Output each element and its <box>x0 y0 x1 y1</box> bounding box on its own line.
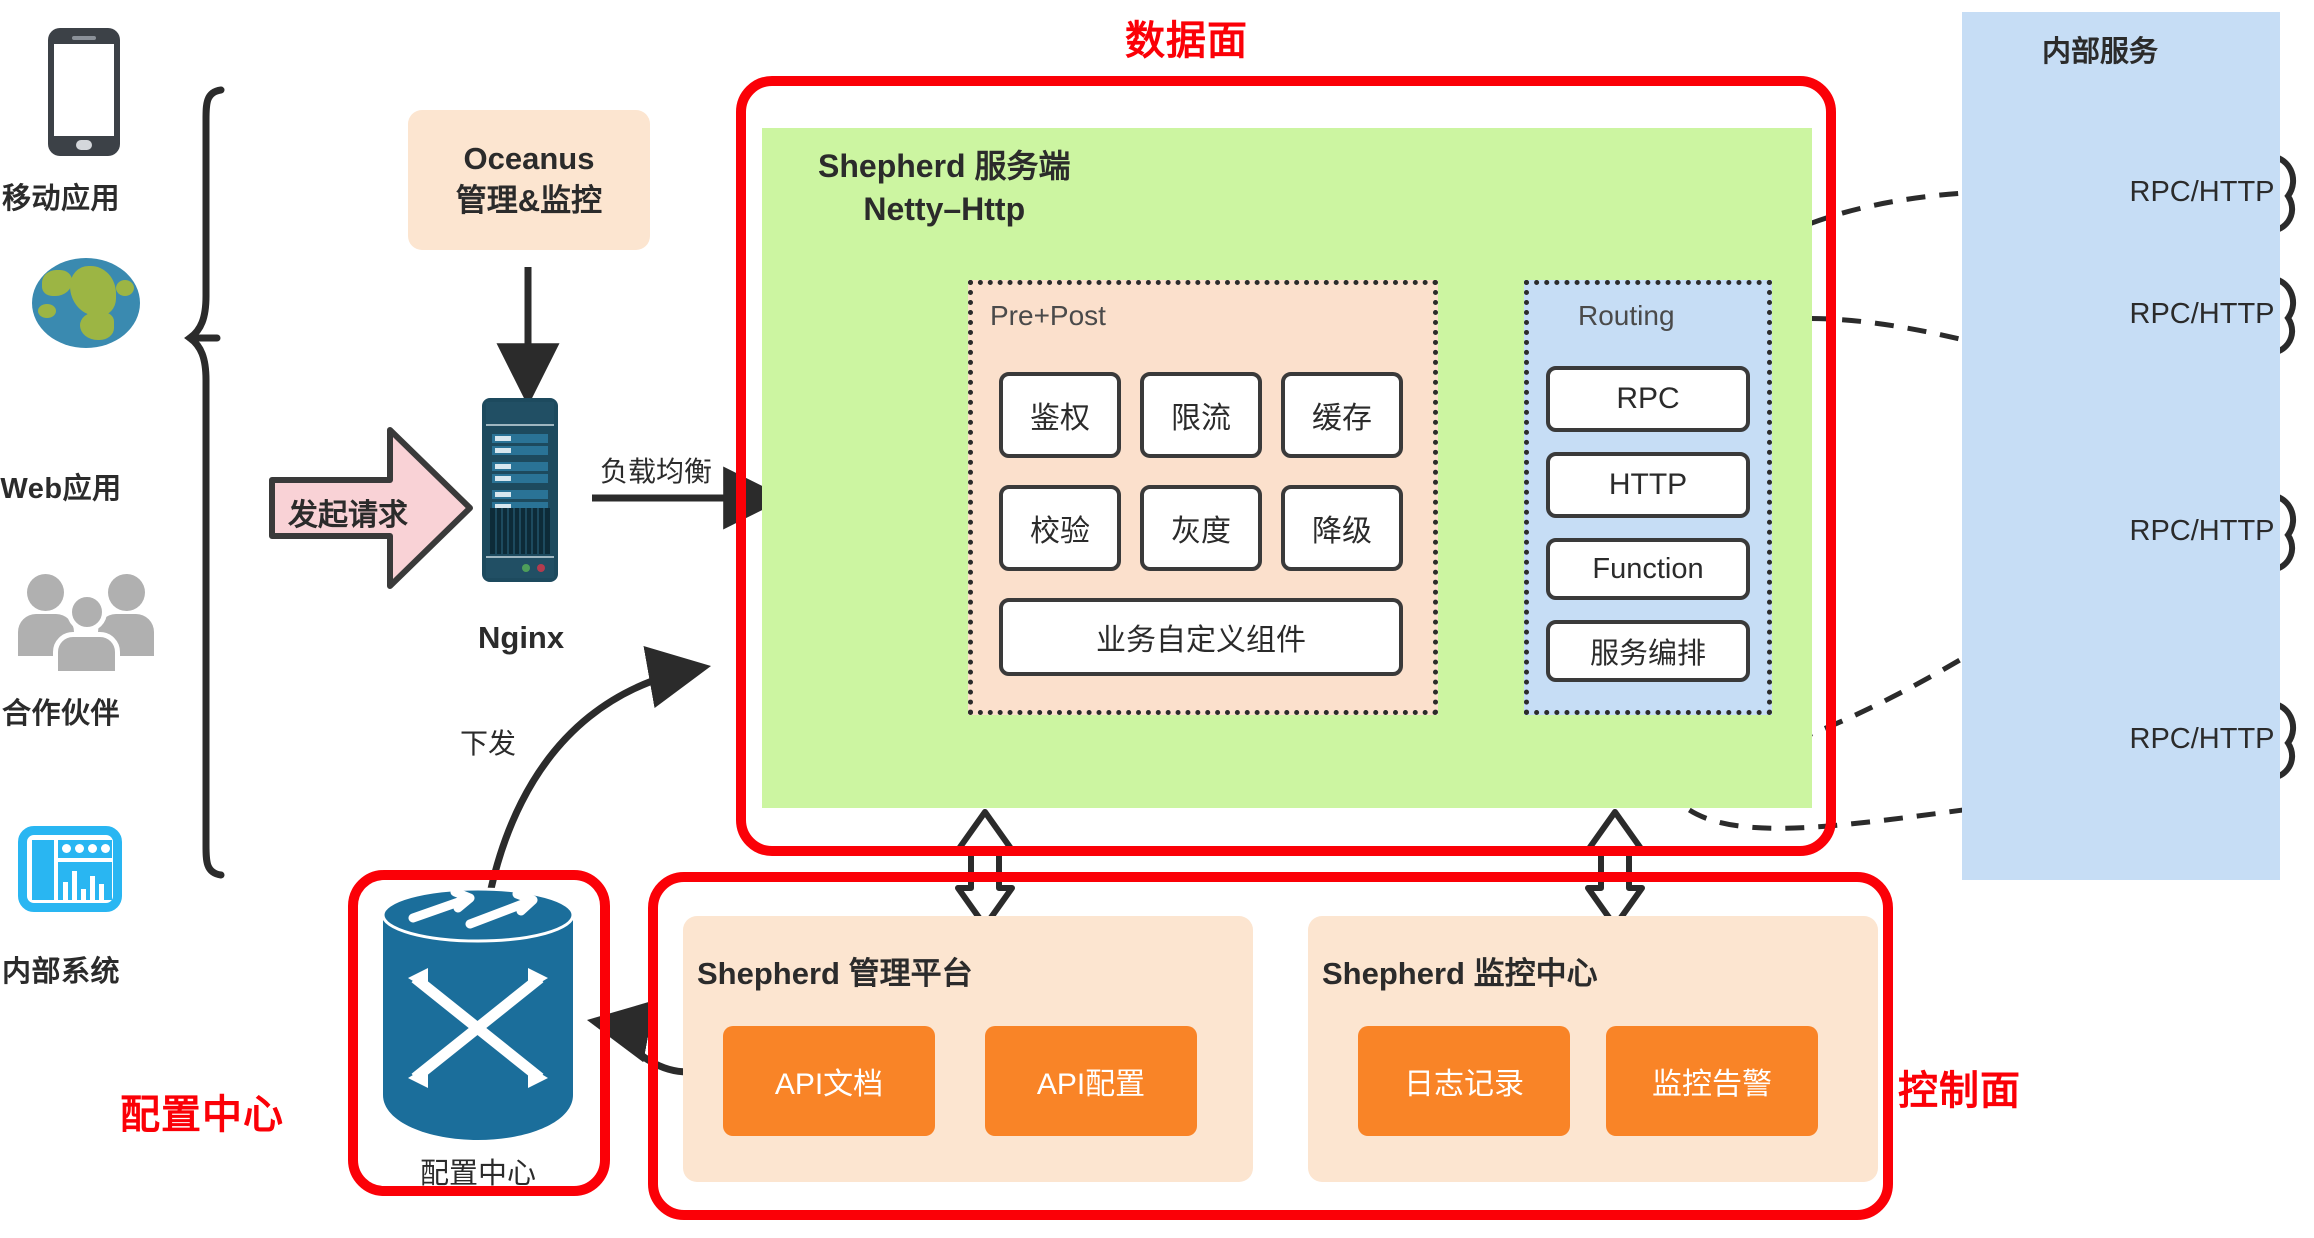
chip-ratelimit[interactable]: 限流 <box>1140 372 1262 458</box>
shepherd-server-title-line1: Shepherd 服务端 <box>818 145 1070 188</box>
cloud-label-2: RPC/HTTP <box>2110 294 2294 334</box>
chip-degrade[interactable]: 降级 <box>1281 485 1403 571</box>
config-center-boundary <box>348 870 610 1196</box>
shepherd-monitoring-title: Shepherd 监控中心 <box>1322 948 1598 993</box>
oceanus-card[interactable]: Oceanus 管理&监控 <box>408 110 650 250</box>
pre-post-title: Pre+Post <box>990 300 1106 332</box>
client-item-web <box>32 258 140 348</box>
client-label-internal: 内部系统 <box>0 948 166 990</box>
button-api-config[interactable]: API配置 <box>985 1026 1197 1136</box>
cloud-label-1: RPC/HTTP <box>2110 172 2294 212</box>
chip-graystage[interactable]: 灰度 <box>1140 485 1262 571</box>
client-item-internal <box>18 826 122 912</box>
client-label-mobile: 移动应用 <box>0 175 166 217</box>
cloud-label-3: RPC/HTTP <box>2110 511 2294 551</box>
people-group-icon <box>22 570 152 670</box>
shepherd-server-title: Shepherd 服务端 Netty–Http <box>818 145 1070 231</box>
mobile-phone-icon <box>48 28 120 156</box>
chip-routing-function[interactable]: Function <box>1546 538 1750 600</box>
client-item-partner <box>22 570 152 670</box>
config-center-plane-title: 配置中心 <box>120 1082 284 1140</box>
button-log-record[interactable]: 日志记录 <box>1358 1026 1570 1136</box>
data-plane-title: 数据面 <box>1125 8 1248 66</box>
chip-validate[interactable]: 校验 <box>999 485 1121 571</box>
config-center-label: 配置中心 <box>383 1150 573 1192</box>
cloud-label-4: RPC/HTTP <box>2110 719 2294 759</box>
control-plane-title: 控制面 <box>1898 1058 2021 1116</box>
chip-cache[interactable]: 缓存 <box>1281 372 1403 458</box>
nginx-server-icon <box>482 398 558 582</box>
button-api-doc[interactable]: API文档 <box>723 1026 935 1136</box>
internal-services-title: 内部服务 <box>2042 28 2158 70</box>
shepherd-server-title-line2: Netty–Http <box>818 188 1070 231</box>
request-arrow-label: 发起请求 <box>273 490 423 534</box>
chip-routing-orchestration[interactable]: 服务编排 <box>1546 620 1750 682</box>
button-monitor-alert[interactable]: 监控告警 <box>1606 1026 1818 1136</box>
oceanus-title: Oceanus <box>464 138 595 180</box>
routing-title: Routing <box>1578 300 1675 332</box>
client-label-partner: 合作伙伴 <box>0 690 166 732</box>
chip-routing-http[interactable]: HTTP <box>1546 452 1750 518</box>
chip-routing-rpc[interactable]: RPC <box>1546 366 1750 432</box>
dashboard-monitor-icon <box>18 826 122 912</box>
oceanus-subtitle: 管理&监控 <box>456 180 602 222</box>
globe-icon <box>32 258 140 348</box>
client-item-mobile <box>48 28 120 156</box>
push-config-label: 下发 <box>460 722 516 762</box>
shepherd-management-title: Shepherd 管理平台 <box>697 948 973 993</box>
nginx-label: Nginx <box>478 620 564 656</box>
chip-auth[interactable]: 鉴权 <box>999 372 1121 458</box>
client-label-web: Web应用 <box>0 465 166 507</box>
load-balance-label: 负载均衡 <box>600 450 712 490</box>
client-group-bracket <box>190 90 221 875</box>
architecture-diagram: 移动应用 Web应用 合作伙伴 <box>0 0 2314 1238</box>
chip-custom-component[interactable]: 业务自定义组件 <box>999 598 1403 676</box>
